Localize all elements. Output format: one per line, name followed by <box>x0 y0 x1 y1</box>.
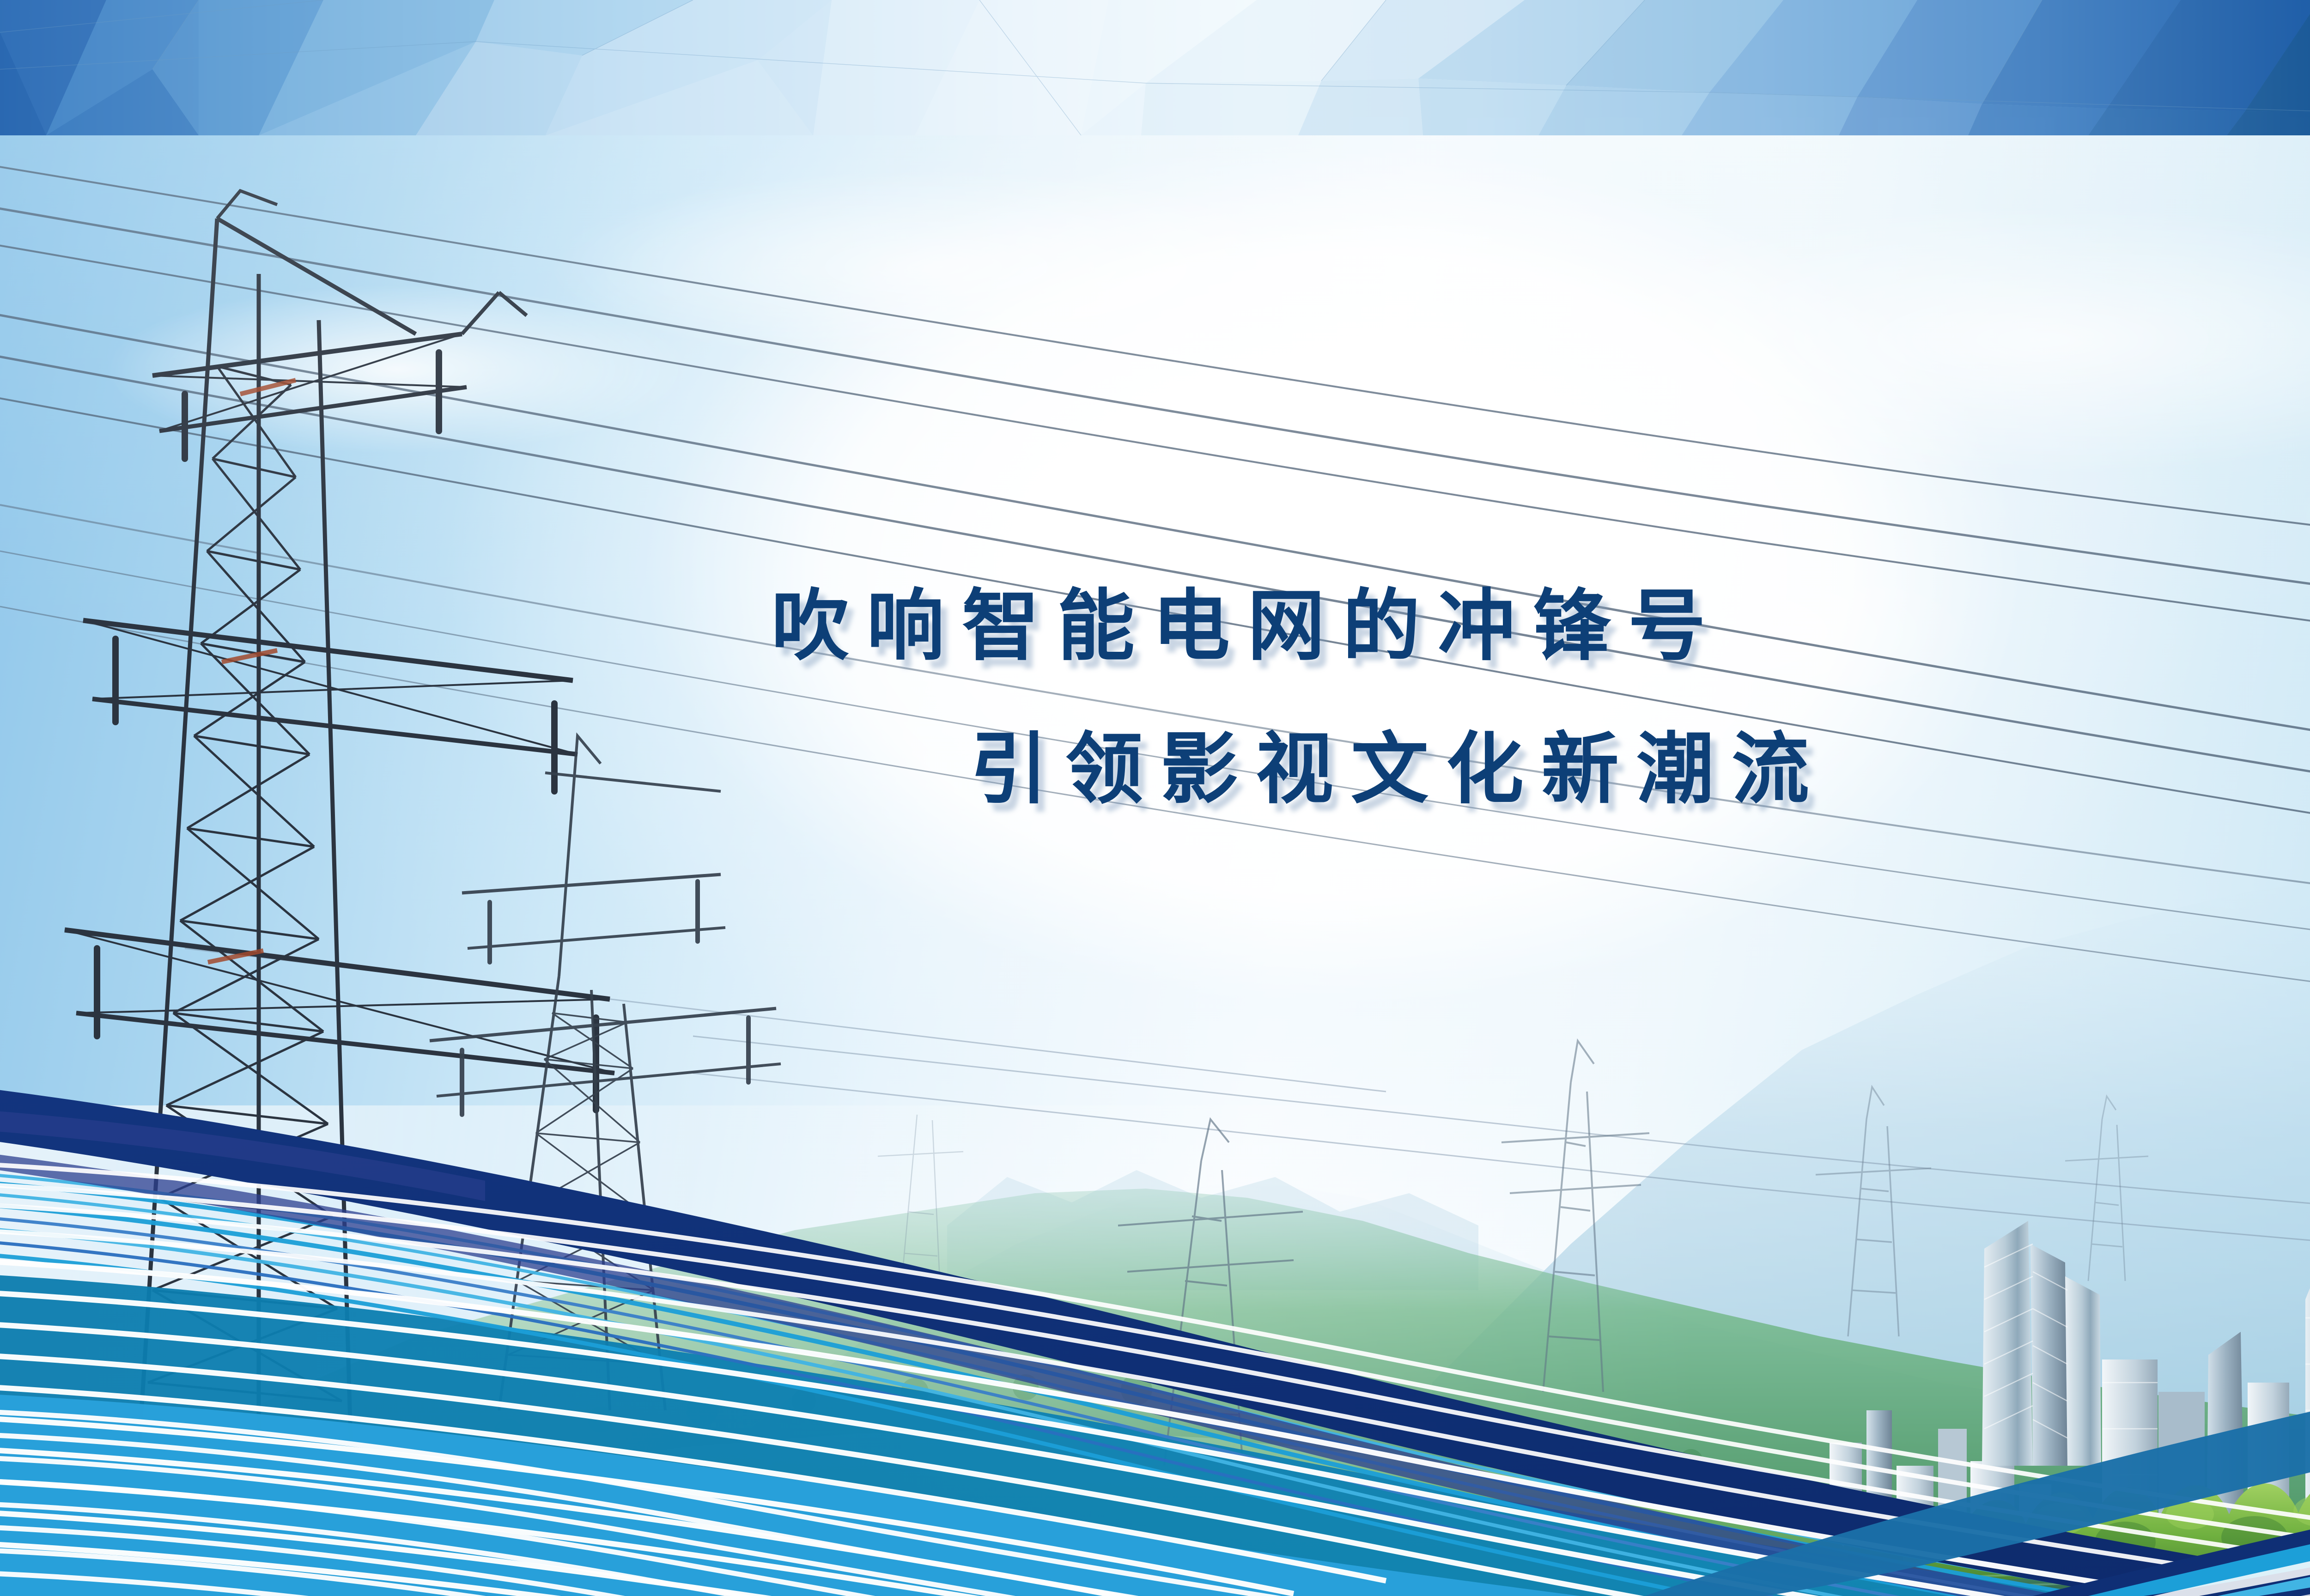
scene-photo-composite <box>0 135 2310 1596</box>
photo-wash <box>0 135 2310 1596</box>
low-poly-header-band <box>0 0 2310 135</box>
low-poly-svg <box>0 0 2310 135</box>
poster-root: 吹响智能电网的冲锋号 引领影视文化新潮流 <box>0 0 2310 1596</box>
